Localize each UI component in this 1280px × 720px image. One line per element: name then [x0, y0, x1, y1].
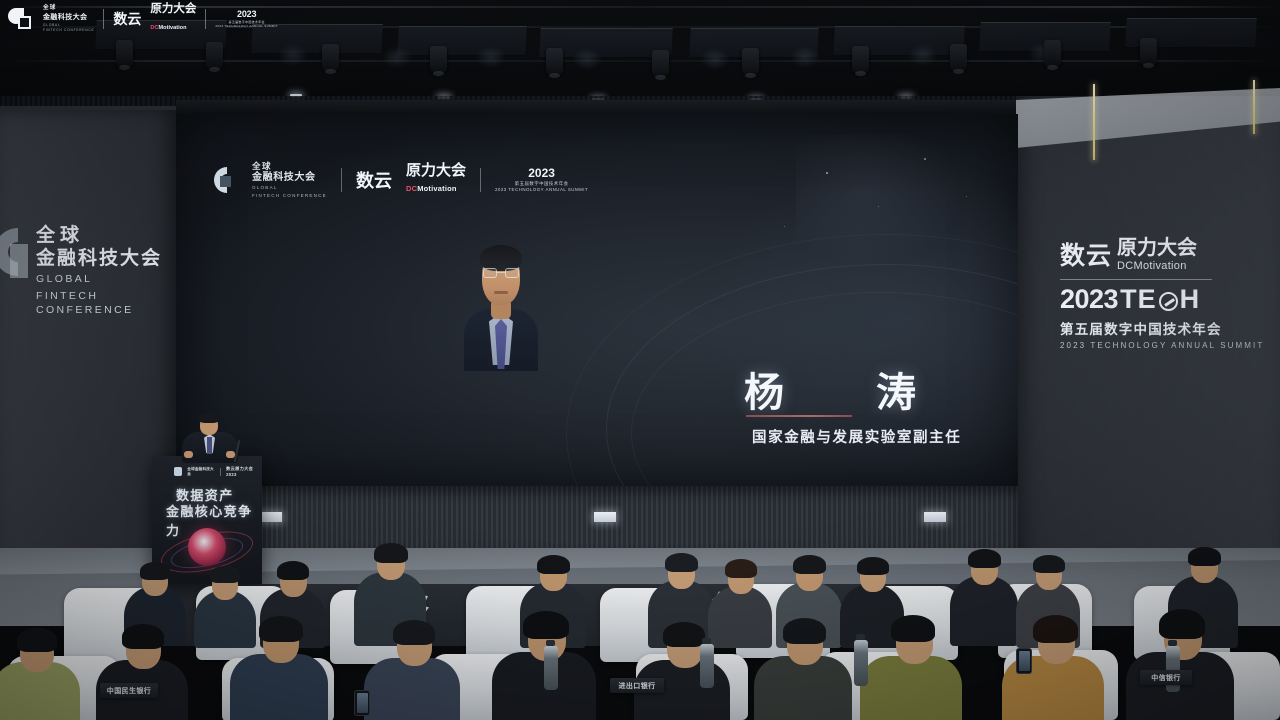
right-wall-banner: 数云 原力大会 DCMotivation 2023 TE H 第五届数字中国技术… [1060, 236, 1278, 350]
stage-light-fixture [852, 46, 869, 73]
right-banner-shuyun: 数云 [1060, 236, 1112, 272]
stage-light-fixture [742, 48, 759, 75]
right-banner-sub-cn: 第五届数字中国技术年会 [1060, 318, 1278, 338]
fintech-logo-mark [208, 165, 238, 195]
screen-org-en1: GLOBAL [252, 185, 327, 191]
watermark-org-en1: GLOBAL [43, 23, 94, 27]
watermark-event-motivation: Motivation [159, 25, 187, 31]
nameplate-label: 中国民生银行 [107, 686, 151, 696]
podium-event-label: 数云原力大会 2023 [226, 466, 262, 477]
right-banner-sub-en: 2023 TECHNOLOGY ANNUAL SUMMIT [1060, 341, 1278, 350]
logo-divider [480, 168, 481, 192]
wall-light-strip [1093, 84, 1095, 160]
screen-badge-sub-cn: 第五届数字中国技术年会 [515, 182, 569, 187]
left-banner-cn-line2: 金融科技大会 [36, 247, 170, 270]
stage-light-fixture [1044, 40, 1061, 67]
screen-org-en2: FINTECH CONFERENCE [252, 193, 327, 199]
stage-panel-light [594, 512, 616, 522]
stage-panel-light [924, 512, 946, 522]
screen-badge: 2023 第五届数字中国技术年会 2023 TECHNOLOGY ANNUAL … [495, 167, 588, 193]
speaker-name: 杨 涛 [744, 360, 942, 418]
broadcast-watermark: 全球 金融科技大会 GLOBAL FINTECH CONFERENCE 数云 原… [8, 4, 278, 34]
logo-divider [341, 168, 342, 192]
podium-logos: 全球金融科技大会 数云原力大会 2023 [174, 466, 262, 477]
watermark-org-en2: FINTECH CONFERENCE [43, 28, 94, 32]
watermark-event-dc: DC [150, 25, 158, 31]
mobile-phone [354, 690, 370, 716]
water-bottle [854, 640, 868, 686]
screen-org-text: 全球 金融科技大会 GLOBAL FINTECH CONFERENCE [252, 161, 327, 199]
right-banner-divider [1060, 279, 1212, 280]
conference-stage-scene: 全球 金融科技大会 GLOBAL FINTECH CONFERENCE 数云 原… [0, 0, 1280, 720]
watermark-event-shuyun: 数云 [113, 9, 141, 29]
watermark-badge: 2023 第五届数字中国技术年会 2023 TECHNOLOGY ANNUAL … [215, 10, 278, 29]
bottle-cap [1168, 640, 1177, 646]
screen-header-logos: 全球 金融科技大会 GLOBAL FINTECH CONFERENCE 数云 原… [208, 161, 588, 199]
right-banner-title-block: 原力大会 DCMotivation [1117, 238, 1197, 272]
screen-event-yuan: 原力大会 [406, 163, 466, 178]
watermark-org-cn2: 金融科技大会 [43, 13, 94, 22]
logo-divider [220, 468, 221, 476]
watermark-org-text: 全球 金融科技大会 GLOBAL FINTECH CONFERENCE [43, 5, 94, 32]
screen-badge-sub-en: 2023 TECHNOLOGY ANNUAL SUMMIT [495, 188, 588, 193]
right-banner-year: 2023 [1060, 284, 1118, 315]
fintech-logo-mark [174, 467, 182, 476]
left-banner-en-line1: GLOBAL [36, 272, 170, 286]
mobile-phone [1016, 648, 1032, 674]
bottle-cap [546, 640, 555, 646]
stage-panel-light [260, 512, 282, 522]
stage-light-fixture [322, 44, 339, 71]
logo-divider [205, 9, 206, 29]
name-underline-rule [746, 415, 852, 417]
audience-area: 中国民生银行 进出口银行 中信银行 [0, 528, 1280, 720]
right-banner-tech-tail: H [1180, 284, 1201, 315]
left-banner-text: 全球 金融科技大会 GLOBAL FINTECH CONFERENCE [36, 224, 170, 317]
screen-org-cn1: 全球 [252, 161, 327, 172]
live-speaker-at-podium [178, 415, 242, 461]
delegate-nameplate: 中国民生银行 [100, 683, 158, 698]
right-banner-cn: 原力大会 [1117, 238, 1197, 259]
stage-light-fixture [1140, 38, 1157, 65]
stage-light-fixture [430, 46, 447, 73]
wall-light-strip [1253, 80, 1255, 134]
screen-event-dc: DC [406, 184, 417, 193]
screen-event-shuyun: 数云 [356, 167, 392, 193]
logo-divider [103, 9, 104, 29]
main-led-screen: 全球 金融科技大会 GLOBAL FINTECH CONFERENCE 数云 原… [176, 114, 1018, 486]
water-bottle [700, 644, 714, 688]
fintech-logo-mark [8, 6, 34, 32]
water-bottle [544, 646, 558, 690]
glasses-icon [483, 268, 519, 278]
watermark-badge-year: 2023 [237, 10, 256, 19]
right-banner-tech-row: 2023 TE H [1060, 284, 1278, 315]
watermark-badge-sub-en: 2023 TECHNOLOGY ANNUAL SUMMIT [215, 25, 278, 28]
stage-light-fixture [546, 48, 563, 75]
right-banner-en: DCMotivation [1117, 260, 1197, 272]
screen-event-block: 原力大会 DCMotivation [406, 163, 466, 196]
podium-org-label: 全球金融科技大会 [187, 467, 215, 476]
stage-light-fixture [652, 50, 669, 77]
right-banner-tech: TE [1120, 284, 1157, 315]
stage-light-fixture [206, 42, 223, 69]
at-circle-icon [1159, 292, 1178, 311]
left-banner-cn-line1: 全球 [36, 224, 170, 247]
delegate-nameplate: 进出口银行 [610, 678, 664, 693]
screen-soffit [176, 100, 1018, 114]
bottle-cap [702, 638, 711, 644]
watermark-org-cn1: 全球 [43, 5, 94, 12]
screen-event-motivation: Motivation [417, 184, 457, 193]
stage-light-fixture [116, 40, 133, 67]
truss-panel [397, 26, 527, 56]
screen-badge-year: 2023 [528, 167, 555, 180]
left-banner-en-line2: FINTECH CONFERENCE [36, 289, 170, 317]
fintech-logo-mark [0, 222, 34, 308]
stage-light-fixture [950, 44, 967, 71]
watermark-event-yuan: 原力大会 [150, 4, 196, 16]
delegate-nameplate: 中信银行 [1140, 670, 1192, 685]
screen-org-cn2: 金融科技大会 [252, 172, 327, 185]
left-wall-banner: 全球 金融科技大会 GLOBAL FINTECH CONFERENCE [0, 218, 170, 318]
speaker-portrait [462, 231, 540, 371]
bottle-cap [856, 634, 865, 640]
watermark-event-block: 原力大会 DCMotivation [150, 4, 196, 34]
nameplate-label: 进出口银行 [619, 681, 656, 691]
nameplate-label: 中信银行 [1151, 673, 1181, 683]
right-banner-top-row: 数云 原力大会 DCMotivation [1060, 236, 1278, 272]
water-bottle [1166, 646, 1180, 692]
speaker-title: 国家金融与发展实验室副主任 [752, 426, 961, 447]
